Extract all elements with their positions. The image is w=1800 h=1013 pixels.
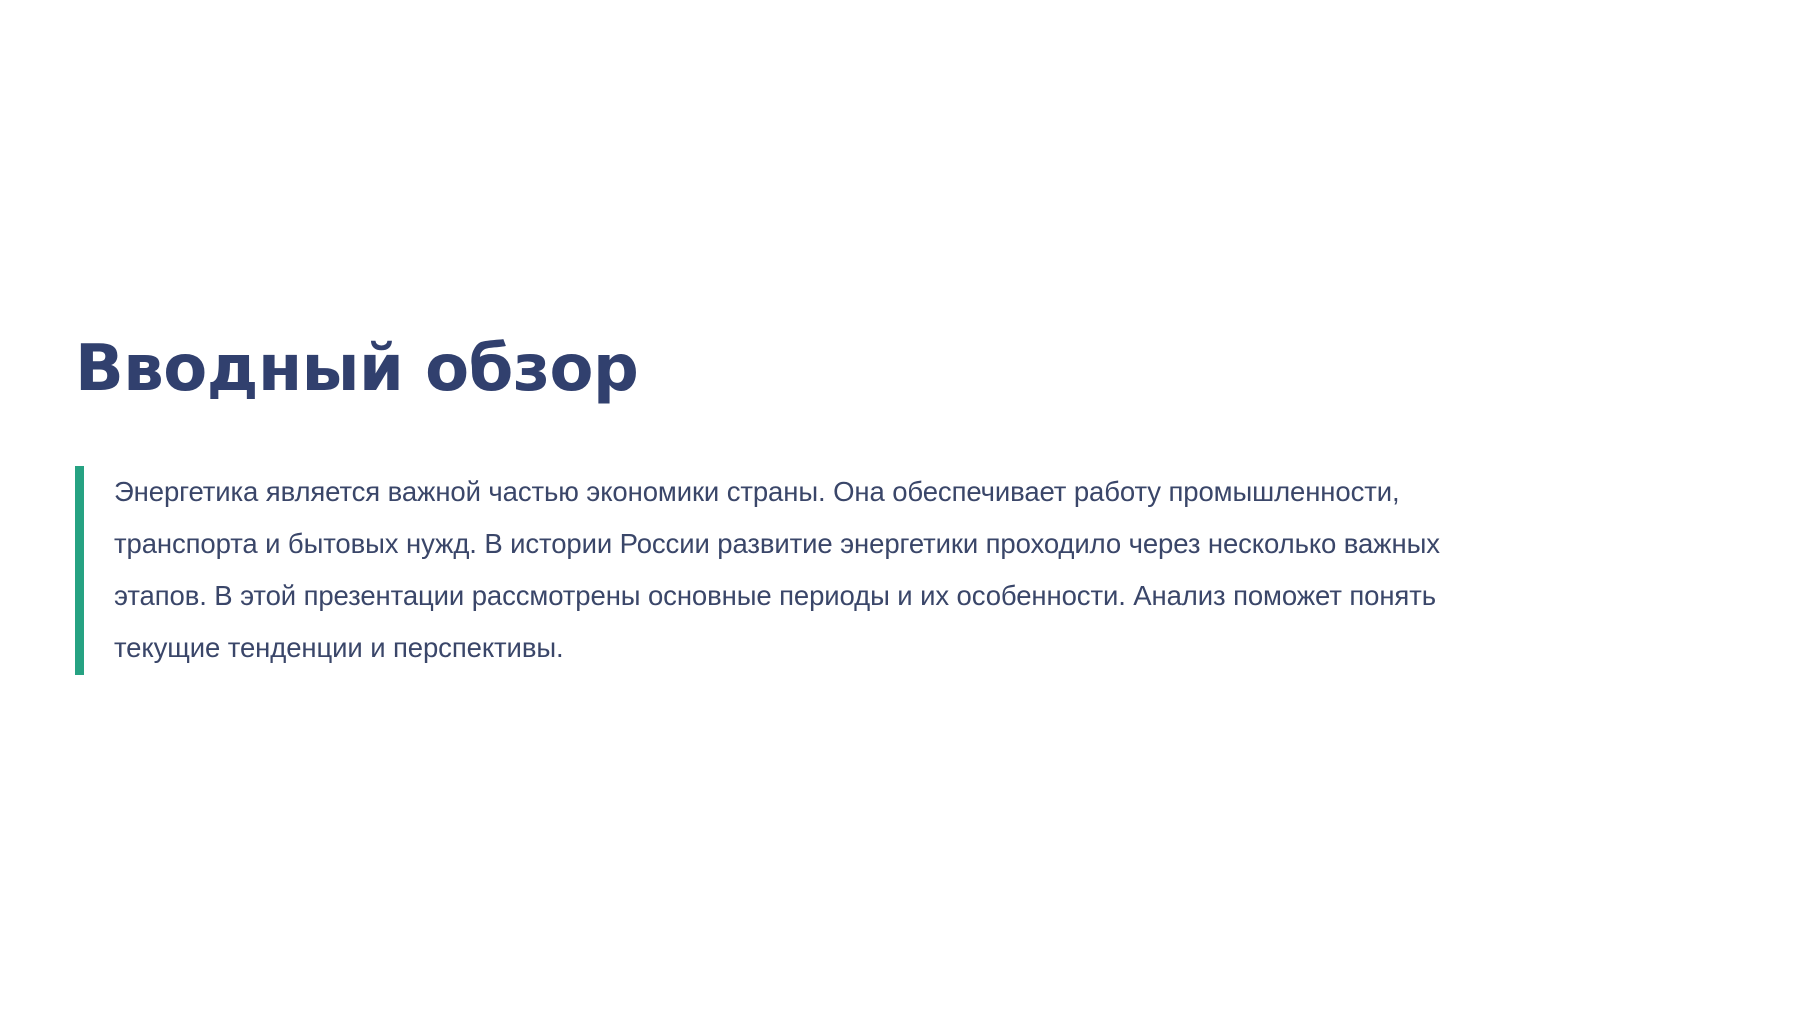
presentation-slide: Вводный обзор Энергетика является важной… — [0, 0, 1800, 1013]
body-block: Энергетика является важной частью эконом… — [75, 466, 1725, 675]
page-title: Вводный обзор — [75, 330, 1725, 408]
body-paragraph: Энергетика является важной частью эконом… — [114, 466, 1534, 674]
left-accent-bar — [75, 466, 84, 675]
slide-content: Вводный обзор Энергетика является важной… — [75, 330, 1725, 675]
